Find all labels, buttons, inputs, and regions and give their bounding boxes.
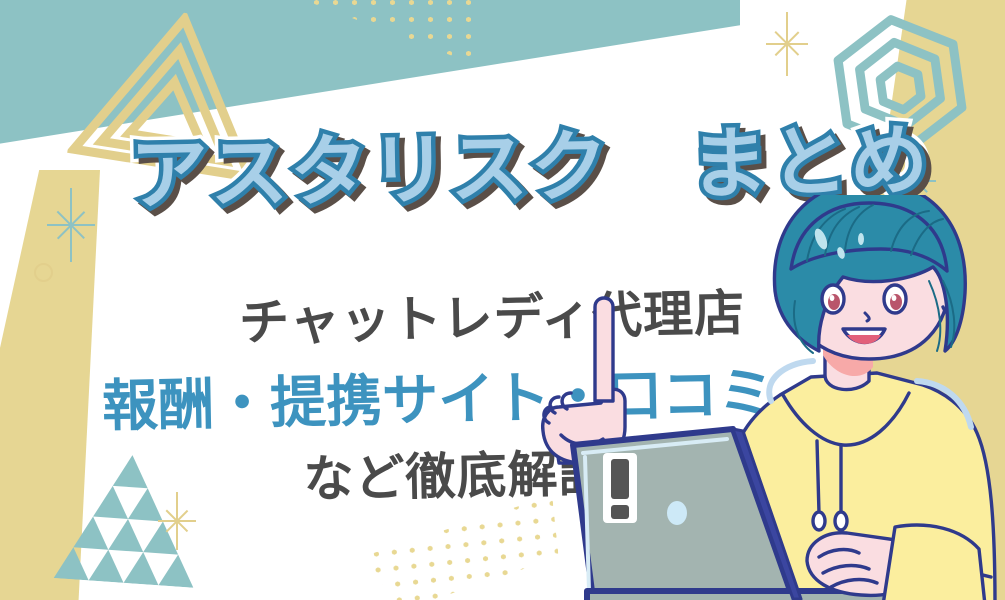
banner-canvas: アスタリスク まとめ アスタリスク まとめ アスタリスク まとめ チャットレディ… — [0, 0, 1005, 600]
illustration-woman-with-laptop — [525, 195, 1005, 600]
sparkle-star-icon — [755, 12, 819, 76]
sparkle-star-icon — [34, 188, 108, 262]
head — [774, 195, 965, 359]
typing-hand — [807, 525, 985, 600]
ring-circle-icon — [34, 263, 53, 282]
